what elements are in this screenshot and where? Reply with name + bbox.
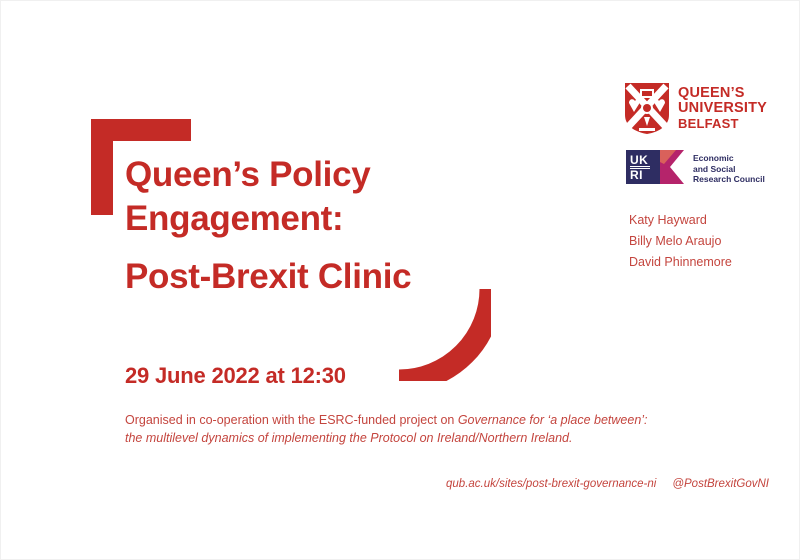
twitter-handle-link[interactable]: @PostBrexitGovNI <box>672 478 769 490</box>
quarter-arc-svg <box>399 289 491 381</box>
bracket-horizontal-bar <box>91 119 191 141</box>
esrc-line-3: Research Council <box>693 174 765 185</box>
qub-wordmark-line-1: QUEEN’S <box>678 86 767 101</box>
qub-logo: QUEEN’S UNIVERSITY BELFAST <box>623 81 767 135</box>
website-link[interactable]: qub.ac.uk/sites/post-brexit-governance-n… <box>446 478 656 490</box>
speaker-name: Billy Melo Araujo <box>629 231 732 252</box>
event-poster: Queen’s Policy Engagement: Post-Brexit C… <box>0 0 800 560</box>
qub-crest-icon <box>623 81 671 135</box>
footer: qub.ac.uk/sites/post-brexit-governance-n… <box>446 478 769 490</box>
ukri-text-ri: RI <box>630 168 650 181</box>
organised-by-note: Organised in co-operation with the ESRC-… <box>125 411 705 447</box>
event-date-time: 29 June 2022 at 12:30 <box>125 363 346 389</box>
note-line-2: the multilevel dynamics of implementing … <box>125 429 705 447</box>
speaker-name: Katy Hayward <box>629 210 732 231</box>
esrc-line-1: Economic <box>693 153 765 164</box>
ukri-esrc-logo: UK RI Economic and Social Research Counc… <box>626 150 765 185</box>
esrc-wordmark: Economic and Social Research Council <box>693 150 765 185</box>
title-line-3: Post-Brexit Clinic <box>125 255 545 299</box>
title-line-2: Engagement: <box>125 197 545 241</box>
qub-wordmark: QUEEN’S UNIVERSITY BELFAST <box>678 86 767 131</box>
title-line-1: Queen’s Policy <box>125 153 545 197</box>
quarter-arc-decoration <box>399 289 491 381</box>
esrc-line-2: and Social <box>693 164 765 175</box>
note-line-1-italic: Governance for ‘a place between’: <box>458 413 648 427</box>
qub-wordmark-line-2: UNIVERSITY <box>678 101 767 116</box>
ukri-mark: UK RI <box>626 150 684 184</box>
speaker-list: Katy Hayward Billy Melo Araujo David Phi… <box>629 210 732 273</box>
qub-wordmark-line-3: BELFAST <box>678 116 767 131</box>
poster-title: Queen’s Policy Engagement: Post-Brexit C… <box>125 153 545 299</box>
speaker-name: David Phinnemore <box>629 252 732 273</box>
note-line-1-roman: Organised in co-operation with the ESRC-… <box>125 413 458 427</box>
ukri-text-uk: UK <box>630 155 650 167</box>
ukri-box: UK RI <box>626 150 660 184</box>
